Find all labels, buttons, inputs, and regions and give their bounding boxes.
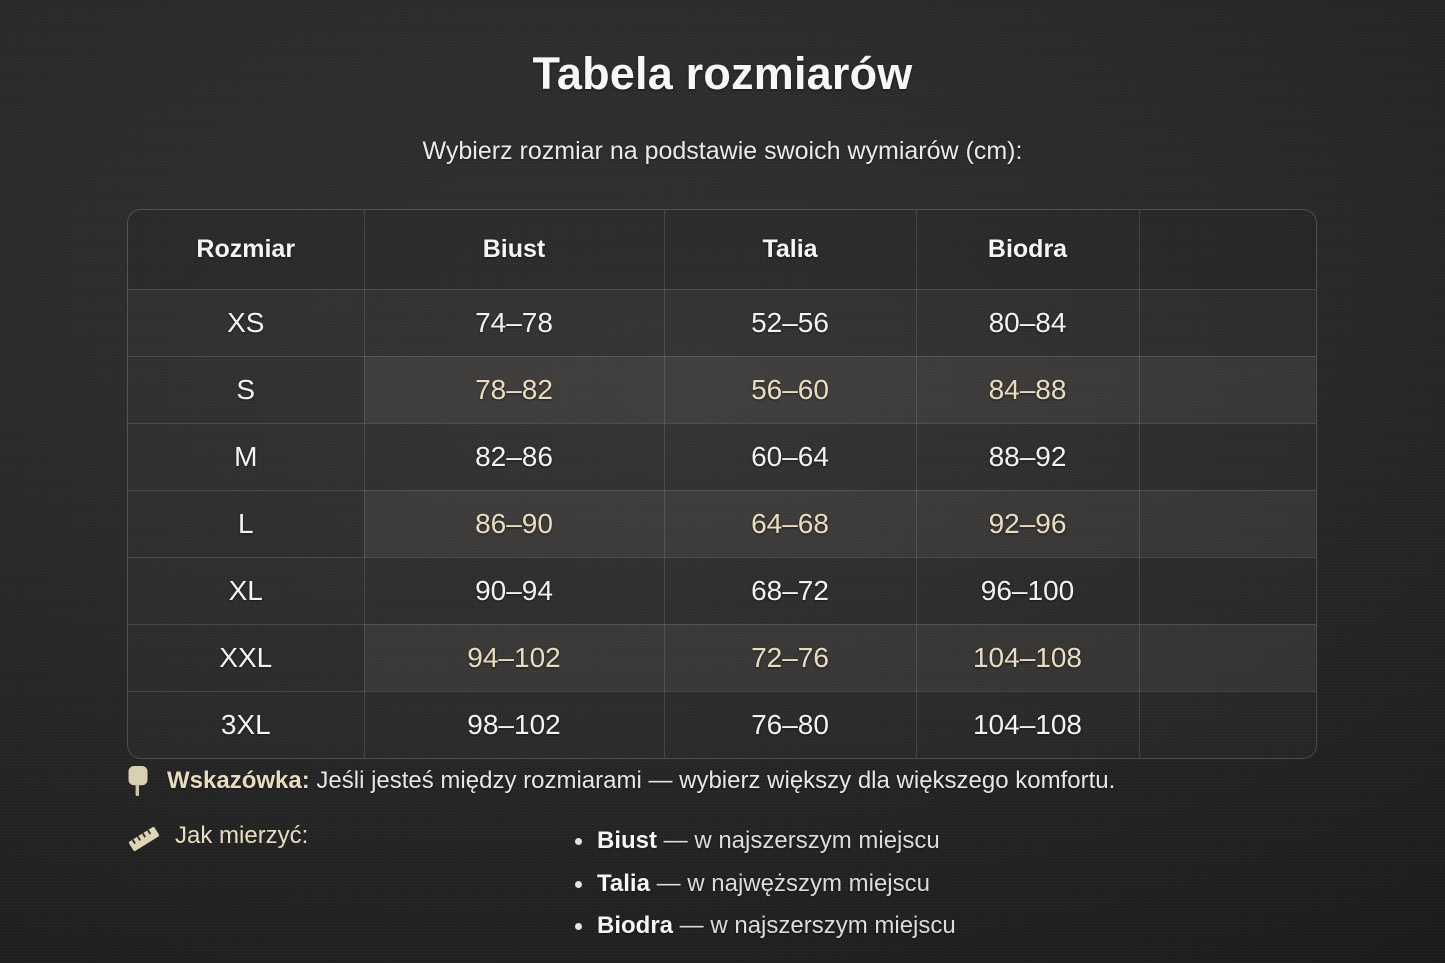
cell-hips: 80–84 [916, 289, 1139, 356]
cell-hips: 92–96 [916, 490, 1139, 557]
cell-blank [1139, 490, 1317, 557]
table-row: S78–8256–6084–88 [128, 356, 1317, 423]
table-row: XS74–7852–5680–84 [128, 289, 1317, 356]
table-body: XS74–7852–5680–84S78–8256–6084–88M82–866… [128, 289, 1317, 758]
table-row: M82–8660–6488–92 [128, 423, 1317, 490]
cell-hips: 88–92 [916, 423, 1139, 490]
cell-blank [1139, 557, 1317, 624]
ruler-icon [127, 824, 161, 854]
cell-waist: 52–56 [664, 289, 916, 356]
list-item: Biodra — w najszerszym miejscu [571, 905, 956, 948]
cell-size: L [128, 490, 364, 557]
cell-waist: 64–68 [664, 490, 916, 557]
measurement-description: — w najszerszym miejscu [657, 827, 940, 854]
cell-blank [1139, 289, 1317, 356]
cell-bust: 98–102 [364, 691, 664, 758]
cell-waist: 60–64 [664, 423, 916, 490]
pin-icon [127, 764, 153, 798]
column-header-waist: Talia [664, 210, 916, 289]
cell-size: XS [128, 289, 364, 356]
cell-bust: 86–90 [364, 490, 664, 557]
how-to-measure-row: Jak mierzyć: Biust — w najszerszym miejs… [127, 818, 1327, 948]
cell-bust: 90–94 [364, 557, 664, 624]
measurement-name: Biodra [597, 912, 673, 939]
tip-label: Wskazówka: [167, 767, 310, 794]
column-header-hips: Biodra [916, 210, 1139, 289]
how-to-measure-list: Biust — w najszerszym miejscuTalia — w n… [571, 818, 956, 948]
measurement-name: Biust [597, 827, 657, 854]
cell-waist: 56–60 [664, 356, 916, 423]
list-item: Biust — w najszerszym miejscu [571, 820, 956, 863]
table-header: Rozmiar Biust Talia Biodra [128, 210, 1317, 289]
measurement-name: Talia [597, 870, 650, 897]
table-row: XL90–9468–7296–100 [128, 557, 1317, 624]
size-chart-page: Tabela rozmiarów Wybierz rozmiar na pods… [0, 0, 1445, 963]
page-title: Tabela rozmiarów [0, 48, 1445, 100]
page-subtitle: Wybierz rozmiar na podstawie swoich wymi… [0, 137, 1445, 166]
cell-bust: 94–102 [364, 624, 664, 691]
cell-waist: 76–80 [664, 691, 916, 758]
notes-section: Wskazówka: Jeśli jesteś między rozmiaram… [127, 758, 1327, 948]
tip-row: Wskazówka: Jeśli jesteś między rozmiaram… [127, 758, 1327, 804]
how-to-measure-label: Jak mierzyć: [175, 818, 375, 850]
table-row: 3XL98–10276–80104–108 [128, 691, 1317, 758]
cell-bust: 82–86 [364, 423, 664, 490]
cell-blank [1139, 356, 1317, 423]
cell-hips: 96–100 [916, 557, 1139, 624]
table-row: L86–9064–6892–96 [128, 490, 1317, 557]
column-header-blank [1139, 210, 1317, 289]
table-header-row: Rozmiar Biust Talia Biodra [128, 210, 1317, 289]
cell-size: S [128, 356, 364, 423]
cell-bust: 74–78 [364, 289, 664, 356]
cell-hips: 104–108 [916, 691, 1139, 758]
tip-text: Wskazówka: Jeśli jesteś między rozmiaram… [167, 767, 1115, 795]
cell-waist: 68–72 [664, 557, 916, 624]
cell-size: 3XL [128, 691, 364, 758]
cell-hips: 84–88 [916, 356, 1139, 423]
cell-size: XXL [128, 624, 364, 691]
cell-bust: 78–82 [364, 356, 664, 423]
cell-waist: 72–76 [664, 624, 916, 691]
tip-body: Jeśli jesteś między rozmiarami — wybierz… [310, 767, 1116, 794]
column-header-bust: Biust [364, 210, 664, 289]
list-item: Talia — w najwęższym miejscu [571, 863, 956, 906]
column-header-size: Rozmiar [128, 210, 364, 289]
cell-blank [1139, 624, 1317, 691]
cell-blank [1139, 423, 1317, 490]
size-table-container: Rozmiar Biust Talia Biodra XS74–7852–568… [127, 209, 1317, 759]
cell-size: XL [128, 557, 364, 624]
measurement-description: — w najwęższym miejscu [650, 870, 930, 897]
cell-hips: 104–108 [916, 624, 1139, 691]
cell-size: M [128, 423, 364, 490]
cell-blank [1139, 691, 1317, 758]
measurement-description: — w najszerszym miejscu [673, 912, 956, 939]
size-table: Rozmiar Biust Talia Biodra XS74–7852–568… [128, 210, 1317, 758]
table-row: XXL94–10272–76104–108 [128, 624, 1317, 691]
